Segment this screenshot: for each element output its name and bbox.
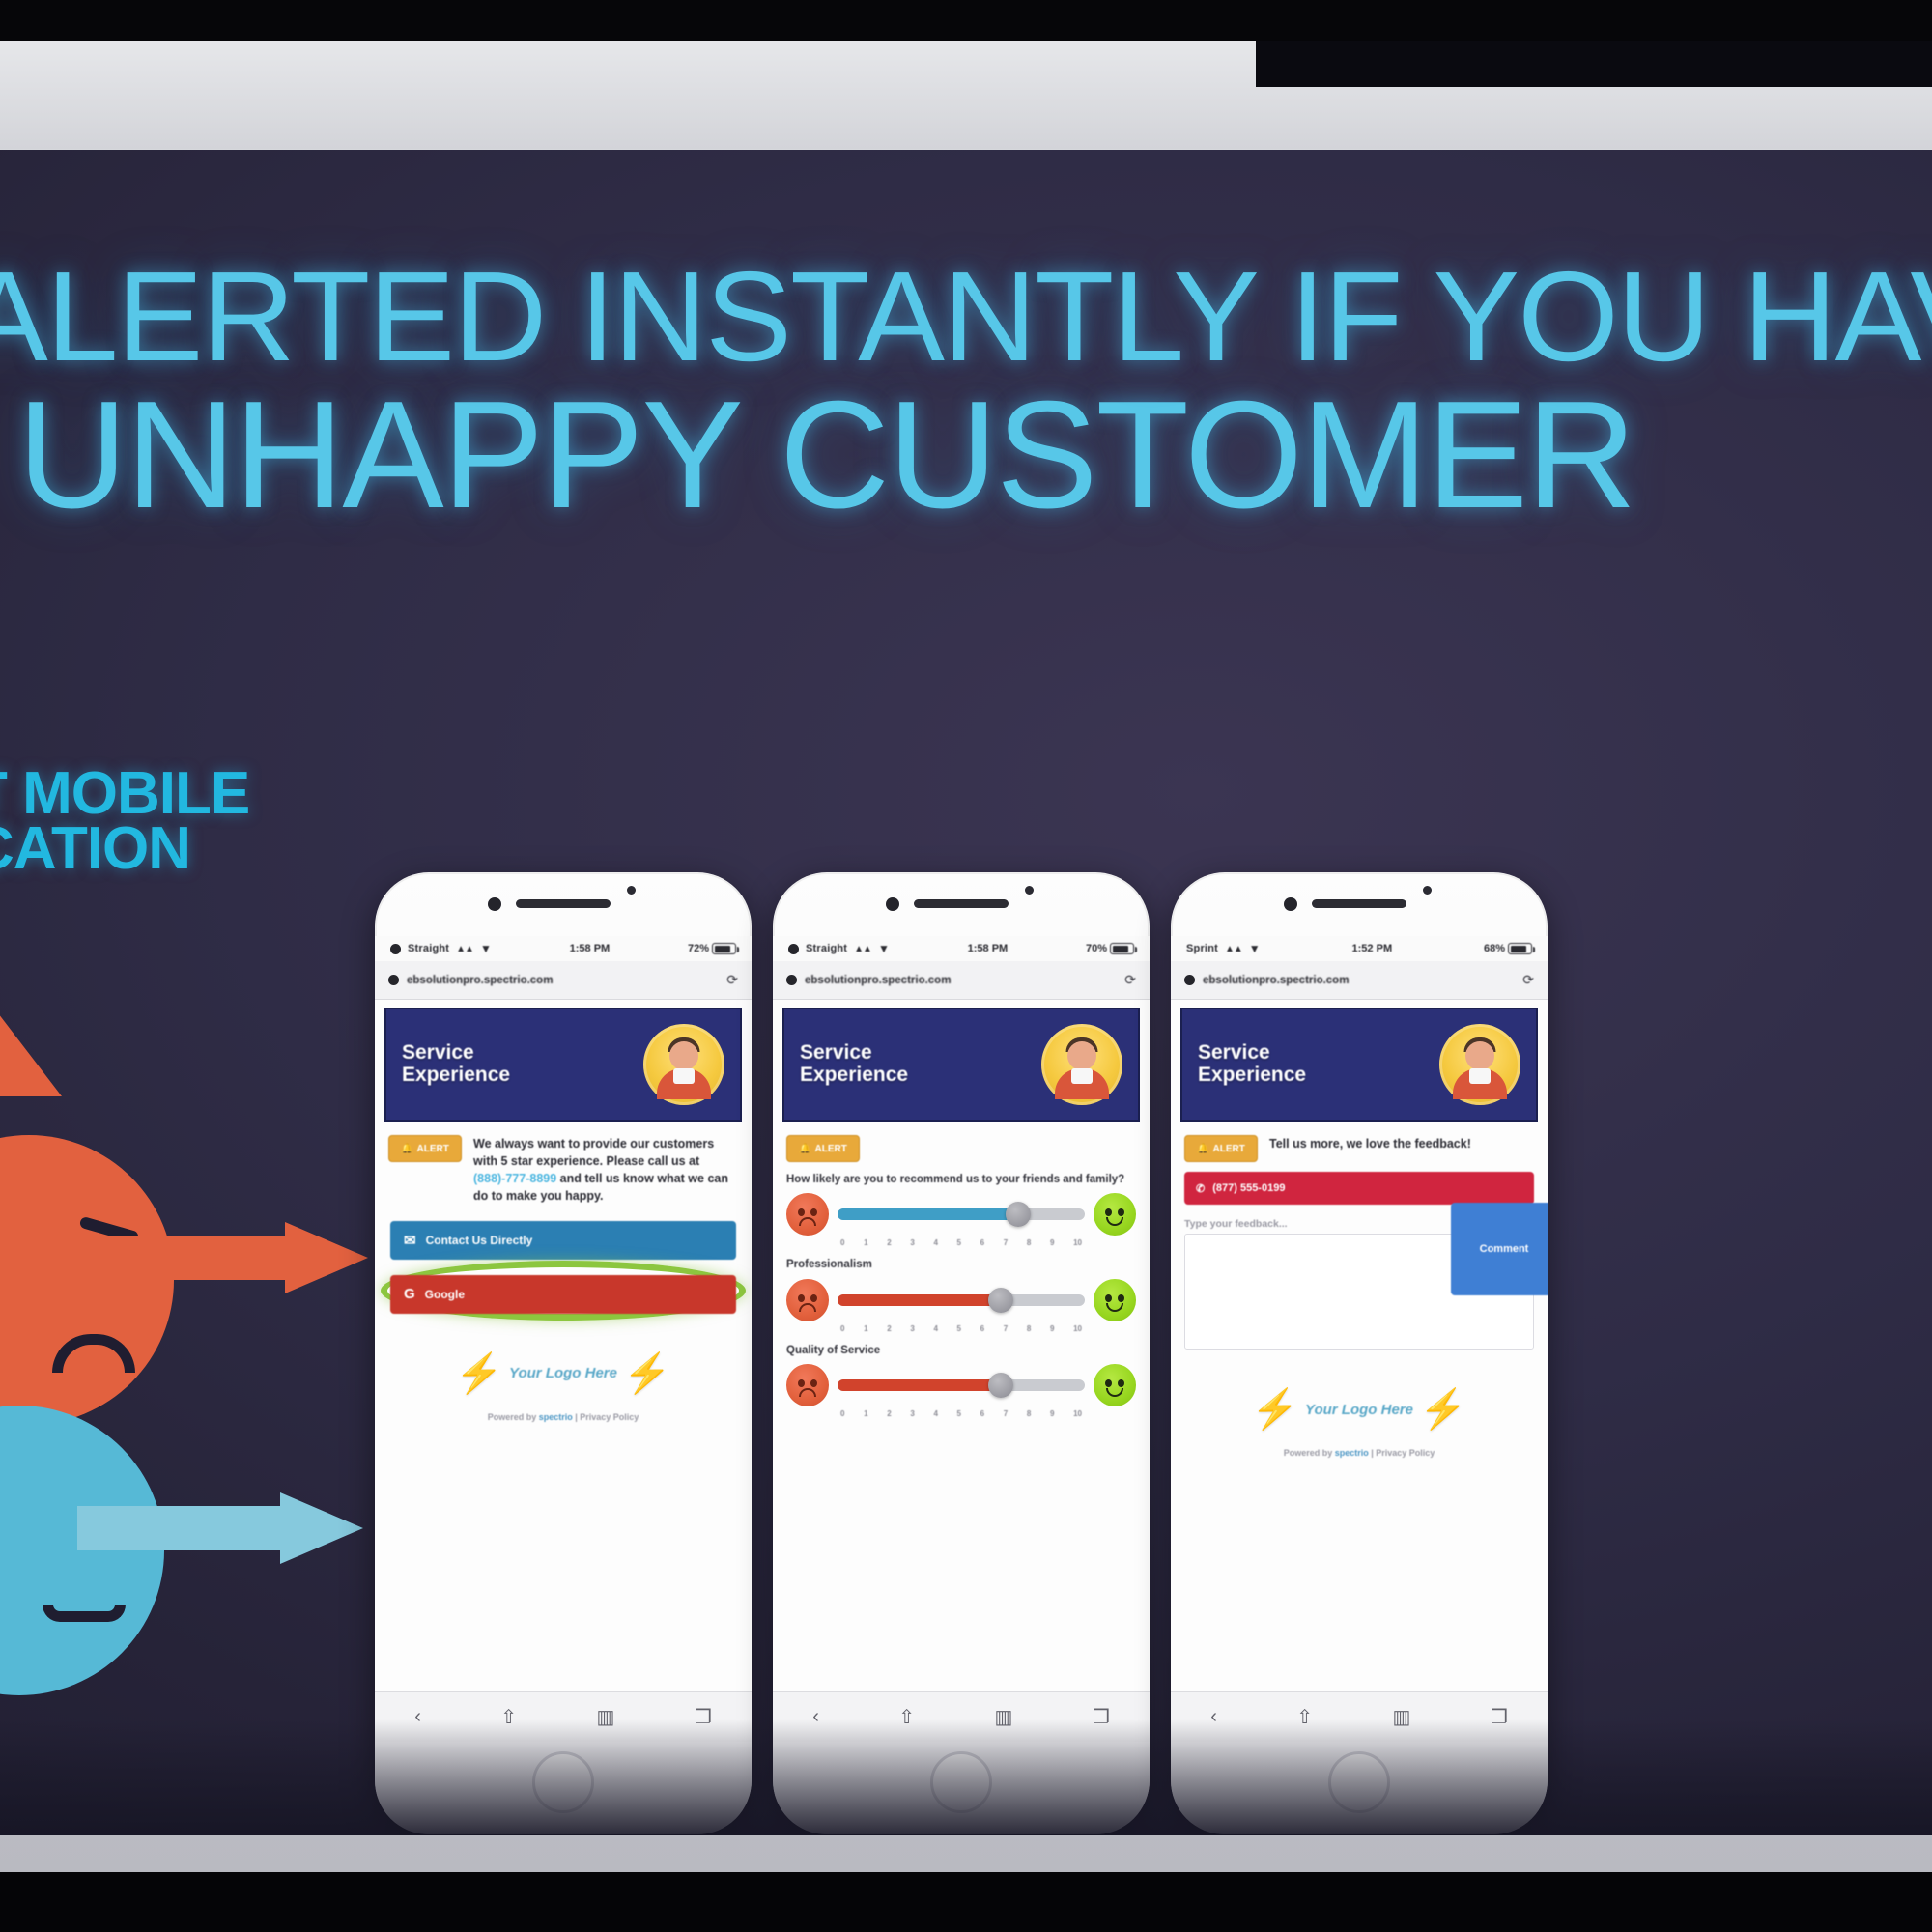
frown-mouth <box>799 1388 816 1397</box>
slider-scale-2: 0 1 2 3 4 5 6 7 8 9 10 <box>840 1324 1082 1333</box>
url-label: ebsolutionpro.spectrio.com <box>407 975 553 986</box>
lightning-bolt-icon-left: ⚡ <box>455 1354 503 1393</box>
phone-1-url-bar[interactable]: ebsolutionpro.spectrio.com ⟳ <box>375 961 752 1000</box>
battery-percent-label: 70% <box>1086 943 1107 954</box>
slider-knob[interactable] <box>988 1373 1013 1398</box>
phone-1-top-hardware <box>375 872 752 936</box>
eye-right <box>1118 1379 1124 1387</box>
front-camera-icon <box>1284 897 1297 911</box>
wifi-icon: ▼ <box>480 942 492 955</box>
smile-mouth <box>1106 1388 1123 1397</box>
tick: 1 <box>864 1409 867 1418</box>
battery-percent-label: 72% <box>688 943 709 954</box>
smile-mouth <box>1106 1303 1123 1312</box>
signal-bars-icon: ▲▲ <box>456 944 473 954</box>
sad-face-icon <box>786 1364 829 1406</box>
clock-label: 1:52 PM <box>1352 943 1393 954</box>
smile-mouth <box>1106 1217 1123 1226</box>
phone-number-link[interactable]: (888)-777-8899 <box>473 1172 556 1185</box>
slider-fill <box>838 1379 1001 1391</box>
question-label: Professionalism <box>786 1257 1136 1272</box>
wifi-icon: ▼ <box>878 942 890 955</box>
brand-title: Service Experience <box>402 1042 510 1086</box>
battery-icon <box>1508 943 1532 954</box>
tick: 2 <box>887 1324 891 1333</box>
presentation-slide: ALERTED INSTANTLY IF YOU HAVE UNHAPPY CU… <box>0 150 1932 1835</box>
phone-3-alert-row: 🔔 ALERT Tell us more, we love the feedba… <box>1171 1122 1548 1162</box>
logo-text: Your Logo Here <box>509 1365 617 1381</box>
phone-3-page-content: Service Experience 🔔 ALERT <box>1171 1000 1548 1695</box>
contact-us-directly-button[interactable]: ✉ Contact Us Directly <box>390 1221 736 1260</box>
phone-2-status-bar: Straight ▲▲ ▼ 1:58 PM 70% <box>773 936 1150 961</box>
service-experience-header-3: Service Experience <box>1180 1008 1538 1122</box>
tick: 5 <box>957 1409 961 1418</box>
avatar-head <box>669 1041 698 1070</box>
brand-title-line-2: Experience <box>800 1065 908 1087</box>
phones-clipping-area: Straight ▲▲ ▼ 1:58 PM 72% ebsolutionpro.… <box>0 150 1932 1835</box>
url-label: ebsolutionpro.spectrio.com <box>805 975 951 986</box>
badge-label: ALERT <box>1213 1144 1245 1154</box>
slider-fill <box>838 1208 1018 1220</box>
slider-knob[interactable] <box>988 1288 1013 1313</box>
earpiece-speaker-icon <box>1312 899 1406 908</box>
tick: 10 <box>1073 1238 1082 1247</box>
eye-left <box>798 1379 805 1387</box>
screenshot-stage: ALERTED INSTANTLY IF YOU HAVE UNHAPPY CU… <box>0 0 1932 1932</box>
carrier-label: Straight <box>806 943 847 954</box>
tick: 7 <box>1004 1324 1008 1333</box>
battery-icon <box>1110 943 1134 954</box>
tick: 8 <box>1027 1324 1031 1333</box>
tick: 4 <box>933 1409 937 1418</box>
avatar-collar <box>1071 1068 1093 1084</box>
battery-fill <box>1511 946 1527 952</box>
phone-2-top-hardware <box>773 872 1150 936</box>
tick: 9 <box>1050 1238 1054 1247</box>
question-label: How likely are you to recommend us to yo… <box>786 1172 1136 1187</box>
avatar-collar <box>1469 1068 1491 1084</box>
carrier-label: Straight <box>408 943 449 954</box>
phone-3-top-hardware <box>1171 872 1548 936</box>
google-icon: G <box>404 1286 415 1302</box>
question-block-1: How likely are you to recommend us to yo… <box>773 1162 1150 1247</box>
reload-icon[interactable]: ⟳ <box>1124 972 1136 988</box>
call-button-label: (877) 555-0199 <box>1212 1182 1285 1194</box>
battery-percent-label: 68% <box>1484 943 1505 954</box>
brand-title-line-1: Service <box>1198 1042 1306 1065</box>
battery-indicator: 70% <box>1086 943 1134 954</box>
phone-2-url-bar[interactable]: ebsolutionpro.spectrio.com ⟳ <box>773 961 1150 1000</box>
avatar-head <box>1067 1041 1096 1070</box>
powered-by-brand: spectrio <box>539 1412 573 1422</box>
letterbox-top <box>0 0 1932 41</box>
happy-face-icon <box>1094 1279 1136 1321</box>
happy-face-icon <box>1094 1193 1136 1236</box>
tick: 1 <box>864 1238 867 1247</box>
lightning-bolt-icon-left: ⚡ <box>1251 1390 1299 1429</box>
sad-face-icon <box>786 1193 829 1236</box>
intro-paragraph: We always want to provide our customers … <box>473 1135 738 1206</box>
tick: 8 <box>1027 1238 1031 1247</box>
contact-button-label: Contact Us Directly <box>426 1234 533 1247</box>
bell-icon: 🔔 <box>1197 1144 1208 1154</box>
clock-label: 1:58 PM <box>968 943 1009 954</box>
rating-slider-row[interactable] <box>786 1193 1136 1236</box>
avatar <box>1439 1024 1520 1105</box>
earpiece-speaker-icon <box>914 899 1009 908</box>
proximity-sensor-icon <box>627 886 636 895</box>
status-badge: 🔔 ALERT <box>1184 1135 1258 1162</box>
phone-2-alert-row: 🔔 ALERT <box>773 1122 1150 1162</box>
service-experience-header-1: Service Experience <box>384 1008 742 1122</box>
brand-title-line-1: Service <box>402 1042 510 1065</box>
powered-by-label: Powered by <box>1284 1448 1333 1458</box>
sad-face-icon <box>786 1279 829 1321</box>
phone-mockup-3: Sprint ▲▲ ▼ 1:52 PM 68% ebsolutionpro.sp… <box>1171 872 1548 1834</box>
tick: 6 <box>980 1409 984 1418</box>
slider-fill <box>838 1294 1001 1306</box>
google-button-label: Google <box>425 1288 465 1301</box>
eye-left <box>798 1208 805 1216</box>
question-label: Quality of Service <box>786 1343 1136 1358</box>
battery-fill <box>1113 946 1129 952</box>
monitor-notch <box>1256 41 1932 87</box>
status-dot-icon <box>788 944 799 954</box>
rating-slider[interactable] <box>838 1288 1085 1313</box>
tick: 2 <box>887 1409 891 1418</box>
powered-by-footer: Powered by spectrio | Privacy Policy <box>1171 1448 1548 1458</box>
tick: 0 <box>840 1324 844 1333</box>
phone-3-status-bar: Sprint ▲▲ ▼ 1:52 PM 68% <box>1171 936 1548 961</box>
eye-right <box>1118 1294 1124 1302</box>
avatar <box>643 1024 724 1105</box>
carrier-label: Sprint <box>1186 943 1218 954</box>
front-camera-icon <box>488 897 501 911</box>
slider-knob[interactable] <box>1006 1202 1031 1227</box>
brand-title: Service Experience <box>800 1042 908 1086</box>
brand-title-line-2: Experience <box>1198 1065 1306 1087</box>
eye-left <box>1105 1294 1112 1302</box>
eye-right <box>810 1379 817 1387</box>
privacy-policy-link[interactable]: | Privacy Policy <box>1371 1448 1435 1458</box>
tick: 5 <box>957 1238 961 1247</box>
slide-bottom-fade <box>0 1719 1932 1835</box>
tick: 0 <box>840 1409 844 1418</box>
phone-1-alert-row: 🔔 ALERT We always want to provide our cu… <box>375 1122 752 1206</box>
tick: 6 <box>980 1324 984 1333</box>
reload-icon[interactable]: ⟳ <box>726 972 738 988</box>
lock-icon <box>1184 975 1195 985</box>
avatar-head <box>1465 1041 1494 1070</box>
slider-scale-1: 0 1 2 3 4 5 6 7 8 9 10 <box>840 1238 1082 1247</box>
call-us-button[interactable]: ✆ (877) 555-0199 <box>1184 1172 1534 1205</box>
rating-slider[interactable] <box>838 1373 1085 1398</box>
question-block-3: Quality of Service <box>773 1333 1150 1418</box>
lock-icon <box>786 975 797 985</box>
tick: 10 <box>1073 1324 1082 1333</box>
battery-fill <box>715 946 731 952</box>
url-label: ebsolutionpro.spectrio.com <box>1203 975 1349 986</box>
logo-text: Your Logo Here <box>1305 1402 1413 1418</box>
earpiece-speaker-icon <box>516 899 611 908</box>
lightning-bolt-icon-right: ⚡ <box>623 1354 671 1393</box>
battery-indicator: 72% <box>688 943 736 954</box>
rating-slider[interactable] <box>838 1202 1085 1227</box>
tick: 6 <box>980 1238 984 1247</box>
comment-submit-button[interactable]: Comment <box>1451 1203 1548 1295</box>
bell-icon: 🔔 <box>401 1144 412 1154</box>
clock-label: 1:58 PM <box>570 943 611 954</box>
frown-mouth <box>799 1303 816 1312</box>
tick: 2 <box>887 1238 891 1247</box>
tick: 3 <box>910 1409 914 1418</box>
paragraph-text: We always want to provide our customers … <box>473 1137 714 1168</box>
eye-right <box>810 1294 817 1302</box>
logo-placeholder-row: ⚡ Your Logo Here ⚡ <box>375 1354 752 1393</box>
eye-left <box>1105 1208 1112 1216</box>
eye-left <box>798 1294 805 1302</box>
phone-mockup-1: Straight ▲▲ ▼ 1:58 PM 72% ebsolutionpro.… <box>375 872 752 1834</box>
envelope-icon: ✉ <box>404 1232 416 1249</box>
brand-title: Service Experience <box>1198 1042 1306 1086</box>
front-camera-icon <box>886 897 899 911</box>
tick: 4 <box>933 1238 937 1247</box>
tick: 0 <box>840 1238 844 1247</box>
status-badge: 🔔 ALERT <box>388 1135 462 1162</box>
google-review-button[interactable]: G Google <box>390 1275 736 1314</box>
phone-1-page-content: Service Experience 🔔 ALERT <box>375 1000 752 1695</box>
brand-title-line-2: Experience <box>402 1065 510 1087</box>
avatar <box>1041 1024 1122 1105</box>
bell-icon: 🔔 <box>799 1144 810 1154</box>
powered-by-label: Powered by <box>488 1412 537 1422</box>
tick: 7 <box>1004 1409 1008 1418</box>
proximity-sensor-icon <box>1423 886 1432 895</box>
tick: 8 <box>1027 1409 1031 1418</box>
logo-placeholder-row: ⚡ Your Logo Here ⚡ <box>1171 1390 1548 1429</box>
service-experience-header-2: Service Experience <box>782 1008 1140 1122</box>
powered-by-footer: Powered by spectrio | Privacy Policy <box>375 1412 752 1422</box>
privacy-policy-link[interactable]: | Privacy Policy <box>575 1412 639 1422</box>
eye-right <box>810 1208 817 1216</box>
tick: 3 <box>910 1238 914 1247</box>
phone-mockup-2: Straight ▲▲ ▼ 1:58 PM 70% ebsolutionpro.… <box>773 872 1150 1834</box>
tick: 1 <box>864 1324 867 1333</box>
letterbox-bottom <box>0 1872 1932 1932</box>
battery-indicator: 68% <box>1484 943 1532 954</box>
rating-slider-row[interactable] <box>786 1364 1136 1406</box>
eye-left <box>1105 1379 1112 1387</box>
badge-label: ALERT <box>417 1144 449 1154</box>
avatar-collar <box>673 1068 695 1084</box>
tick: 7 <box>1004 1238 1008 1247</box>
reload-icon[interactable]: ⟳ <box>1522 972 1534 988</box>
tick: 3 <box>910 1324 914 1333</box>
tick: 10 <box>1073 1409 1082 1418</box>
slider-scale-3: 0 1 2 3 4 5 6 7 8 9 10 <box>840 1409 1082 1418</box>
eye-right <box>1118 1208 1124 1216</box>
question-block-2: Professionalism <box>773 1247 1150 1332</box>
phone-2-page-content: Service Experience 🔔 ALERT <box>773 1000 1150 1695</box>
signal-bars-icon: ▲▲ <box>854 944 871 954</box>
status-dot-icon <box>390 944 401 954</box>
status-badge: 🔔 ALERT <box>786 1135 860 1162</box>
phone-1-status-bar: Straight ▲▲ ▼ 1:58 PM 72% <box>375 936 752 961</box>
phone-3-url-bar[interactable]: ebsolutionpro.spectrio.com ⟳ <box>1171 961 1548 1000</box>
feedback-intro-paragraph: Tell us more, we love the feedback! <box>1269 1135 1471 1162</box>
battery-icon <box>712 943 736 954</box>
tick: 9 <box>1050 1409 1054 1418</box>
wifi-icon: ▼ <box>1249 942 1261 955</box>
tick: 9 <box>1050 1324 1054 1333</box>
phone-receiver-icon: ✆ <box>1196 1182 1205 1195</box>
brand-title-line-1: Service <box>800 1042 908 1065</box>
tick: 5 <box>957 1324 961 1333</box>
happy-face-icon <box>1094 1364 1136 1406</box>
powered-by-brand: spectrio <box>1335 1448 1369 1458</box>
lock-icon <box>388 975 399 985</box>
proximity-sensor-icon <box>1025 886 1034 895</box>
frown-mouth <box>799 1217 816 1226</box>
rating-slider-row[interactable] <box>786 1279 1136 1321</box>
badge-label: ALERT <box>815 1144 847 1154</box>
tick: 4 <box>933 1324 937 1333</box>
signal-bars-icon: ▲▲ <box>1225 944 1242 954</box>
lightning-bolt-icon-right: ⚡ <box>1419 1390 1467 1429</box>
